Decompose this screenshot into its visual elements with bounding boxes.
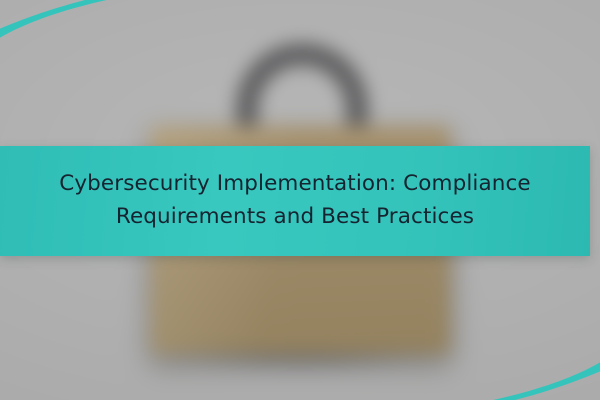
article-header-card: Cybersecurity Implementation: Compliance… [0,0,600,400]
page-title-line-2: Requirements and Best Practices [116,204,474,229]
title-banner: Cybersecurity Implementation: Compliance… [0,146,590,256]
page-title: Cybersecurity Implementation: Compliance… [0,168,590,233]
page-title-line-1: Cybersecurity Implementation: Compliance [59,171,530,196]
